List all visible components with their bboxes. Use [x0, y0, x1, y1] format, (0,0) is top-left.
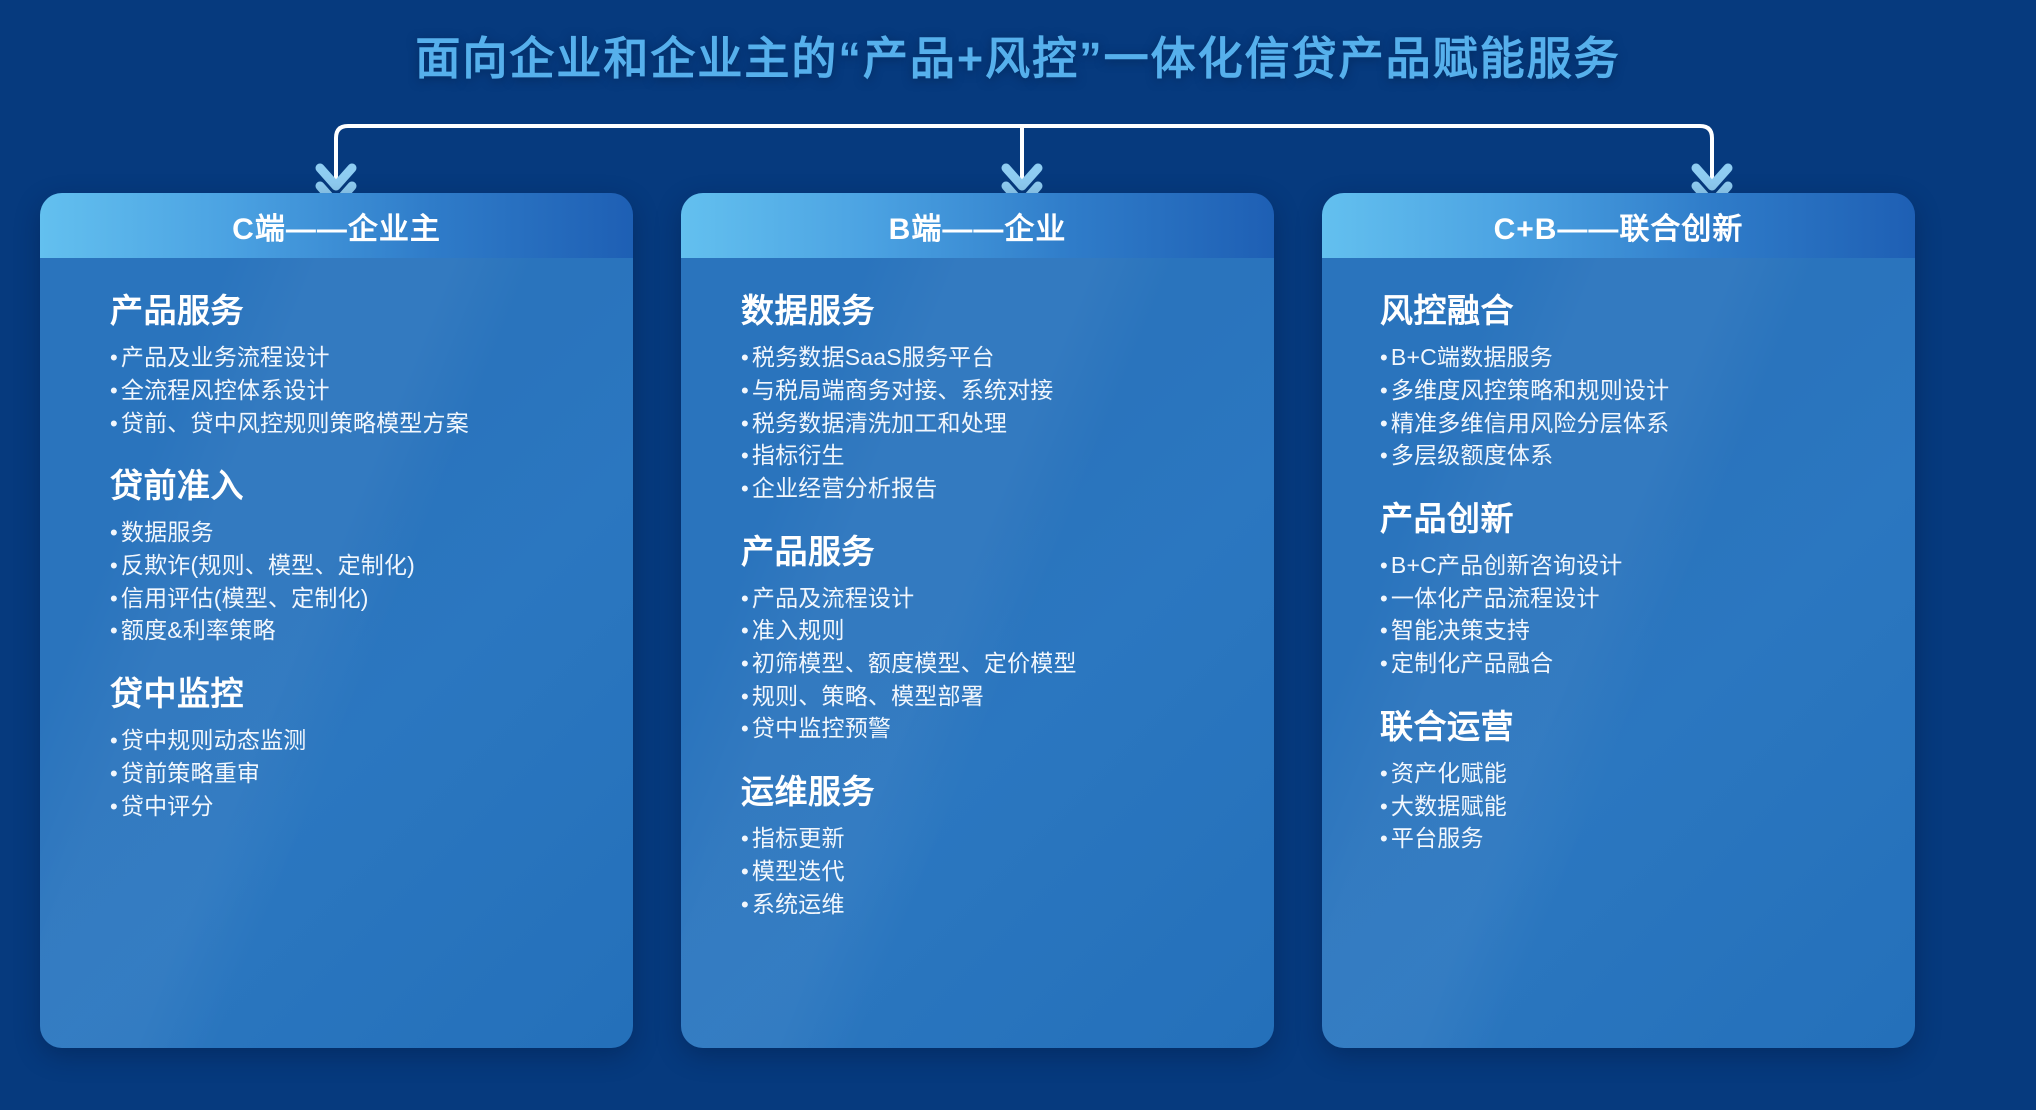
list-item: 企业经营分析报告: [741, 472, 1274, 505]
list-item: 多层级额度体系: [1380, 439, 1915, 472]
section-bullet-list: 指标更新 模型迭代 系统运维: [741, 822, 1274, 920]
list-item: 数据服务: [110, 516, 633, 549]
card-header-c-end: C端——企业主: [40, 193, 633, 258]
section-group: 运维服务 指标更新 模型迭代 系统运维: [741, 771, 1274, 920]
cards-row: C端——企业主 产品服务 产品及业务流程设计 全流程风控体系设计 贷前、贷中风控…: [40, 193, 2036, 1048]
section-bullet-list: 贷中规则动态监测 贷前策略重审 贷中评分: [110, 724, 633, 822]
list-item: 税务数据清洗加工和处理: [741, 407, 1274, 440]
card-body-c-end: 产品服务 产品及业务流程设计 全流程风控体系设计 贷前、贷中风控规则策略模型方案…: [40, 258, 633, 1048]
section-group: 产品创新 B+C产品创新咨询设计 一体化产品流程设计 智能决策支持 定制化产品融…: [1380, 498, 1915, 680]
card-body-b-end: 数据服务 税务数据SaaS服务平台 与税局端商务对接、系统对接 税务数据清洗加工…: [681, 258, 1274, 1048]
card-c-end[interactable]: C端——企业主 产品服务 产品及业务流程设计 全流程风控体系设计 贷前、贷中风控…: [40, 193, 633, 1048]
section-title: 贷前准入: [110, 465, 633, 506]
card-header-b-end: B端——企业: [681, 193, 1274, 258]
card-b-end[interactable]: B端——企业 数据服务 税务数据SaaS服务平台 与税局端商务对接、系统对接 税…: [681, 193, 1274, 1048]
card-body-cb-joint: 风控融合 B+C端数据服务 多维度风控策略和规则设计 精准多维信用风险分层体系 …: [1322, 258, 1915, 1048]
slide-root: 面向企业和企业主的“产品+风控”一体化信贷产品赋能服务 C端——企业主 产品服务…: [0, 0, 2036, 1110]
section-group: 联合运营 资产化赋能 大数据赋能 平台服务: [1380, 706, 1915, 855]
list-item: 系统运维: [741, 888, 1274, 921]
section-bullet-list: 资产化赋能 大数据赋能 平台服务: [1380, 757, 1915, 855]
section-bullet-list: B+C端数据服务 多维度风控策略和规则设计 精准多维信用风险分层体系 多层级额度…: [1380, 341, 1915, 472]
list-item: 产品及流程设计: [741, 582, 1274, 615]
list-item: 定制化产品融合: [1380, 647, 1915, 680]
section-bullet-list: 数据服务 反欺诈(规则、模型、定制化) 信用评估(模型、定制化) 额度&利率策略: [110, 516, 633, 647]
list-item: 准入规则: [741, 614, 1274, 647]
list-item: 大数据赋能: [1380, 790, 1915, 823]
connector-lines: [336, 126, 1712, 185]
section-title: 产品服务: [110, 290, 633, 331]
list-item: 贷前、贷中风控规则策略模型方案: [110, 407, 633, 440]
list-item: 反欺诈(规则、模型、定制化): [110, 549, 633, 582]
section-bullet-list: B+C产品创新咨询设计 一体化产品流程设计 智能决策支持 定制化产品融合: [1380, 549, 1915, 680]
list-item: 贷中监控预警: [741, 712, 1274, 745]
section-bullet-list: 产品及业务流程设计 全流程风控体系设计 贷前、贷中风控规则策略模型方案: [110, 341, 633, 439]
section-title: 贷中监控: [110, 673, 633, 714]
list-item: 产品及业务流程设计: [110, 341, 633, 374]
list-item: 税务数据SaaS服务平台: [741, 341, 1274, 374]
section-group: 贷前准入 数据服务 反欺诈(规则、模型、定制化) 信用评估(模型、定制化) 额度…: [110, 465, 633, 647]
list-item: 信用评估(模型、定制化): [110, 582, 633, 615]
card-cb-joint[interactable]: C+B——联合创新 风控融合 B+C端数据服务 多维度风控策略和规则设计 精准多…: [1322, 193, 1915, 1048]
list-item: 贷前策略重审: [110, 757, 633, 790]
section-title: 产品创新: [1380, 498, 1915, 539]
card-header-cb-joint: C+B——联合创新: [1322, 193, 1915, 258]
list-item: 资产化赋能: [1380, 757, 1915, 790]
list-item: B+C产品创新咨询设计: [1380, 549, 1915, 582]
list-item: 与税局端商务对接、系统对接: [741, 374, 1274, 407]
list-item: 贷中规则动态监测: [110, 724, 633, 757]
list-item: 多维度风控策略和规则设计: [1380, 374, 1915, 407]
section-title: 运维服务: [741, 771, 1274, 812]
list-item: 贷中评分: [110, 790, 633, 823]
section-bullet-list: 产品及流程设计 准入规则 初筛模型、额度模型、定价模型 规则、策略、模型部署 贷…: [741, 582, 1274, 745]
list-item: 规则、策略、模型部署: [741, 680, 1274, 713]
section-title: 风控融合: [1380, 290, 1915, 331]
section-title: 产品服务: [741, 531, 1274, 572]
section-group: 贷中监控 贷中规则动态监测 贷前策略重审 贷中评分: [110, 673, 633, 822]
list-item: 初筛模型、额度模型、定价模型: [741, 647, 1274, 680]
list-item: 指标更新: [741, 822, 1274, 855]
list-item: 指标衍生: [741, 439, 1274, 472]
section-title: 联合运营: [1380, 706, 1915, 747]
section-group: 数据服务 税务数据SaaS服务平台 与税局端商务对接、系统对接 税务数据清洗加工…: [741, 290, 1274, 505]
section-group: 产品服务 产品及业务流程设计 全流程风控体系设计 贷前、贷中风控规则策略模型方案: [110, 290, 633, 439]
list-item: 模型迭代: [741, 855, 1274, 888]
section-group: 风控融合 B+C端数据服务 多维度风控策略和规则设计 精准多维信用风险分层体系 …: [1380, 290, 1915, 472]
section-group: 产品服务 产品及流程设计 准入规则 初筛模型、额度模型、定价模型 规则、策略、模…: [741, 531, 1274, 746]
list-item: 额度&利率策略: [110, 614, 633, 647]
list-item: 平台服务: [1380, 822, 1915, 855]
list-item: 智能决策支持: [1380, 614, 1915, 647]
list-item: B+C端数据服务: [1380, 341, 1915, 374]
list-item: 一体化产品流程设计: [1380, 582, 1915, 615]
list-item: 全流程风控体系设计: [110, 374, 633, 407]
connector-diagram: [0, 0, 2036, 210]
section-bullet-list: 税务数据SaaS服务平台 与税局端商务对接、系统对接 税务数据清洗加工和处理 指…: [741, 341, 1274, 504]
list-item: 精准多维信用风险分层体系: [1380, 407, 1915, 440]
section-title: 数据服务: [741, 290, 1274, 331]
